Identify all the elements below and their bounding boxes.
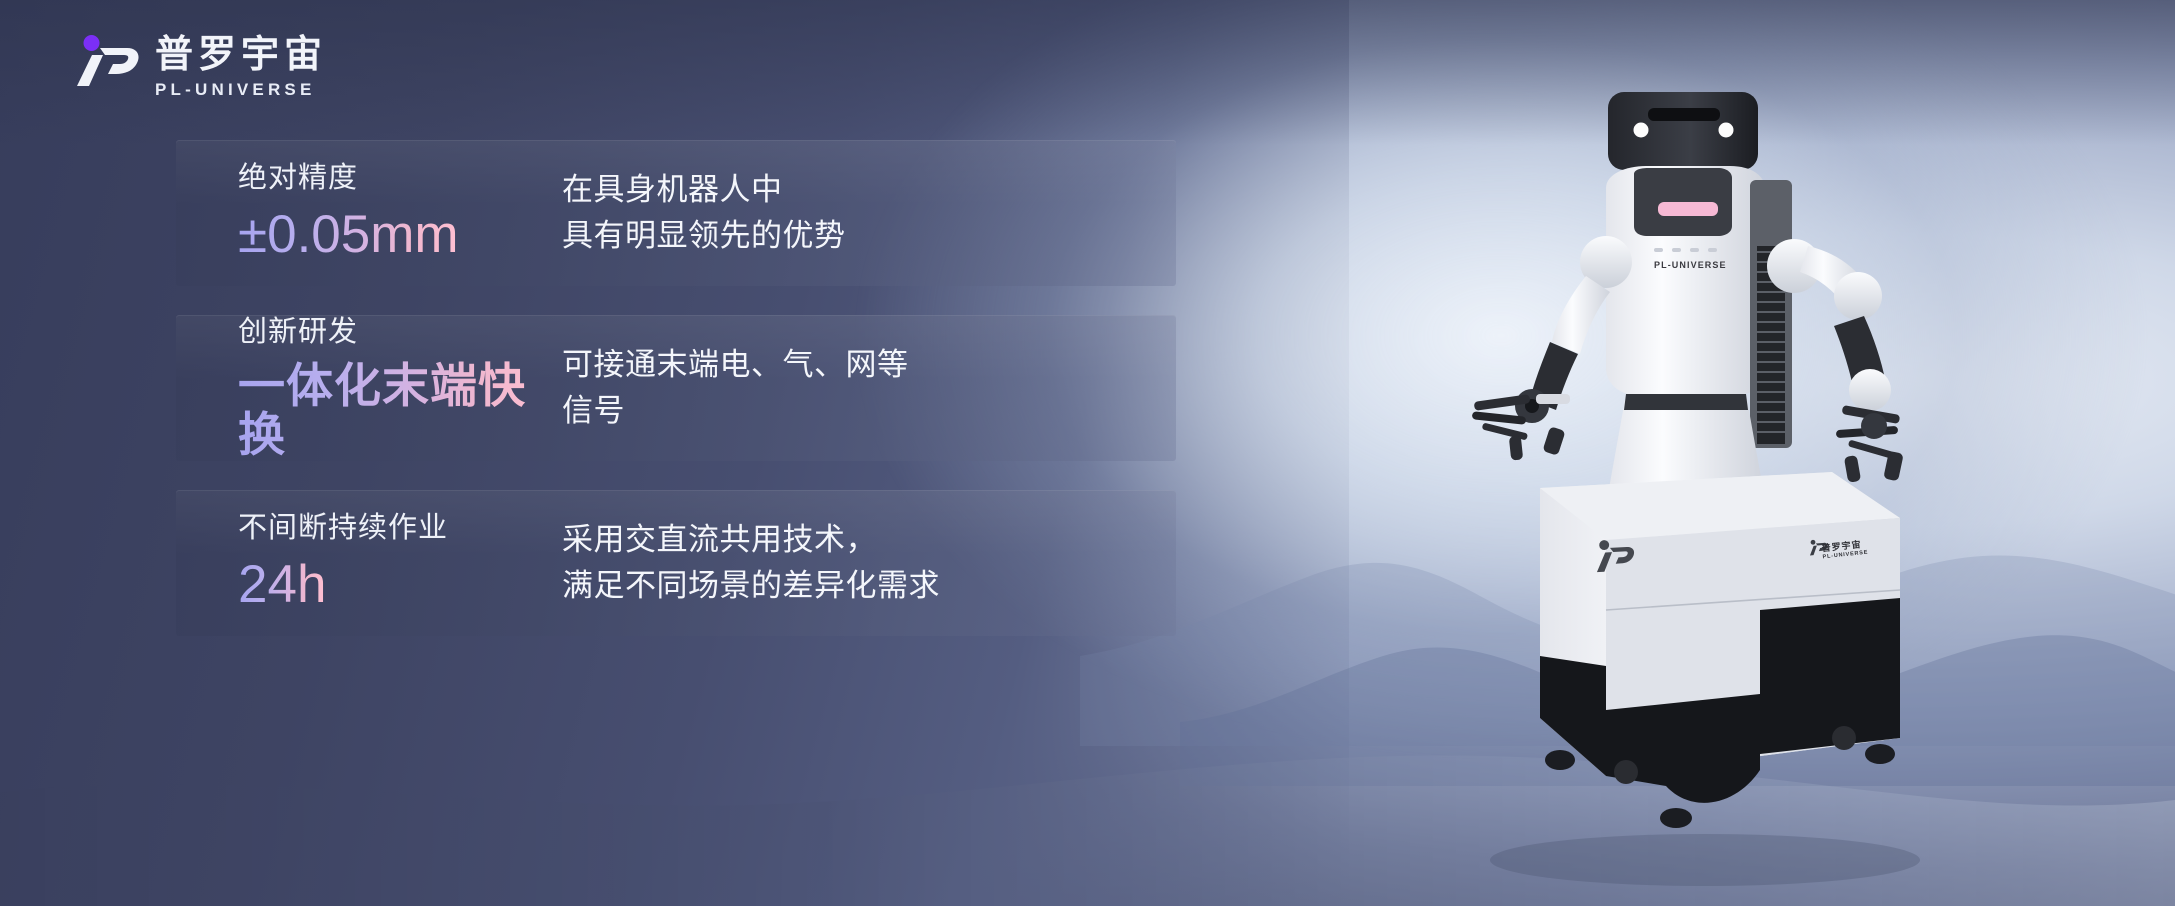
- spec-card-right: 可接通末端电、气、网等 信号: [552, 342, 1176, 434]
- spec-description-line: 可接通末端电、气、网等: [562, 342, 1176, 388]
- robot-image: PL-UNIVERSE 普罗宇宙 PL-UNIVERSE: [1430, 70, 1990, 900]
- spec-card-right: 在具身机器人中 具有明显领先的优势: [552, 167, 1176, 259]
- spec-description-line: 具有明显领先的优势: [562, 213, 1176, 259]
- slide-canvas: 普罗宇宙 PL-UNIVERSE 绝对精度 ±0.05mm 在具身机器人中 具有…: [0, 0, 2175, 906]
- spec-label: 不间断持续作业: [238, 513, 552, 545]
- spec-description-line: 采用交直流共用技术，: [562, 517, 1176, 563]
- spec-value: 一体化末端快换: [238, 361, 552, 460]
- spec-card-left: 不间断持续作业 24h: [176, 513, 552, 613]
- spec-description: 在具身机器人中 具有明显领先的优势: [562, 167, 1176, 259]
- spec-label: 创新研发: [238, 317, 552, 349]
- spec-value: 24h: [238, 557, 326, 613]
- spec-description: 采用交直流共用技术， 满足不同场景的差异化需求: [562, 517, 1176, 609]
- spec-card-left: 绝对精度 ±0.05mm: [176, 163, 552, 263]
- spec-label: 绝对精度: [238, 163, 552, 195]
- spec-description: 可接通末端电、气、网等 信号: [562, 342, 1176, 434]
- robot-chest-label: PL-UNIVERSE: [1654, 260, 1727, 270]
- ip-monogram-logo-icon: [75, 34, 141, 90]
- spec-description-line: 在具身机器人中: [562, 167, 1176, 213]
- spec-card-uptime[interactable]: 不间断持续作业 24h 采用交直流共用技术， 满足不同场景的差异化需求: [176, 490, 1176, 636]
- spec-card-quickchange[interactable]: 创新研发 一体化末端快换 可接通末端电、气、网等 信号: [176, 315, 1176, 461]
- spec-card-left: 创新研发 一体化末端快换: [176, 317, 552, 460]
- spec-card-right: 采用交直流共用技术， 满足不同场景的差异化需求: [552, 517, 1176, 609]
- spec-description-line: 信号: [562, 388, 1176, 434]
- spec-card-list: 绝对精度 ±0.05mm 在具身机器人中 具有明显领先的优势 创新研发 一体化末…: [176, 140, 1176, 665]
- brand-logo[interactable]: 普罗宇宙 PL-UNIVERSE: [75, 34, 327, 98]
- spec-value: ±0.05mm: [238, 207, 459, 263]
- spec-card-precision[interactable]: 绝对精度 ±0.05mm 在具身机器人中 具有明显领先的优势: [176, 140, 1176, 286]
- brand-name-en: PL-UNIVERSE: [155, 81, 327, 98]
- brand-name-cn: 普罗宇宙: [155, 36, 327, 74]
- spec-description-line: 满足不同场景的差异化需求: [562, 563, 1176, 609]
